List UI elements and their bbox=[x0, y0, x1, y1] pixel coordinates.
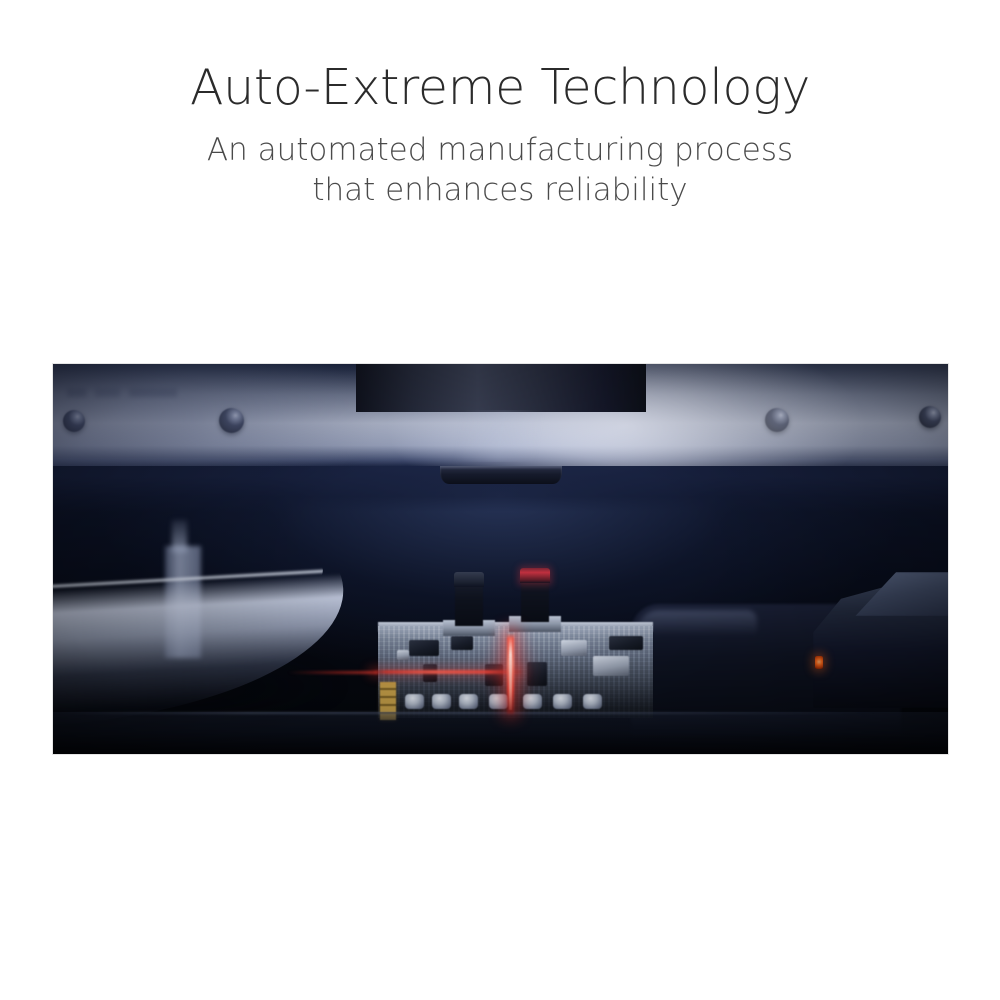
pcb-component bbox=[409, 640, 439, 656]
pcb-component bbox=[609, 636, 643, 650]
page-title: Auto-Extreme Technology bbox=[0, 62, 1000, 115]
promo-page: Auto-Extreme Technology An automated man… bbox=[0, 0, 1000, 1000]
subtitle-line-1: An automated manufacturing process bbox=[0, 131, 1000, 171]
connector-cap-illuminated bbox=[520, 568, 550, 583]
pcb-component bbox=[593, 656, 629, 676]
pcb-component bbox=[397, 650, 409, 660]
page-subtitle: An automated manufacturing process that … bbox=[0, 131, 1000, 210]
pcb-capacitor bbox=[432, 694, 451, 709]
inspection-head bbox=[351, 364, 651, 486]
laser-beam-vertical-core bbox=[509, 636, 512, 710]
panel-bolt bbox=[219, 408, 244, 433]
inspection-head-body bbox=[356, 364, 646, 412]
panel-bolt bbox=[63, 410, 85, 432]
pcb-capacitor bbox=[405, 694, 424, 709]
pcb-component bbox=[561, 640, 587, 656]
inspection-head-lens-ring bbox=[440, 466, 562, 484]
laser-beam-horizontal-far bbox=[288, 671, 378, 674]
connector-cap bbox=[454, 572, 484, 587]
panel-bolt bbox=[919, 406, 941, 428]
heading-block: Auto-Extreme Technology An automated man… bbox=[0, 62, 1000, 210]
pcb-capacitor bbox=[583, 694, 602, 709]
panel-bolt bbox=[765, 408, 789, 432]
subtitle-line-2: that enhances reliability bbox=[0, 171, 1000, 211]
panel-label-text bbox=[67, 388, 177, 397]
laser-beam-horizontal bbox=[371, 670, 521, 674]
manufacturing-photo bbox=[53, 364, 948, 754]
status-led-indicator bbox=[815, 656, 823, 669]
